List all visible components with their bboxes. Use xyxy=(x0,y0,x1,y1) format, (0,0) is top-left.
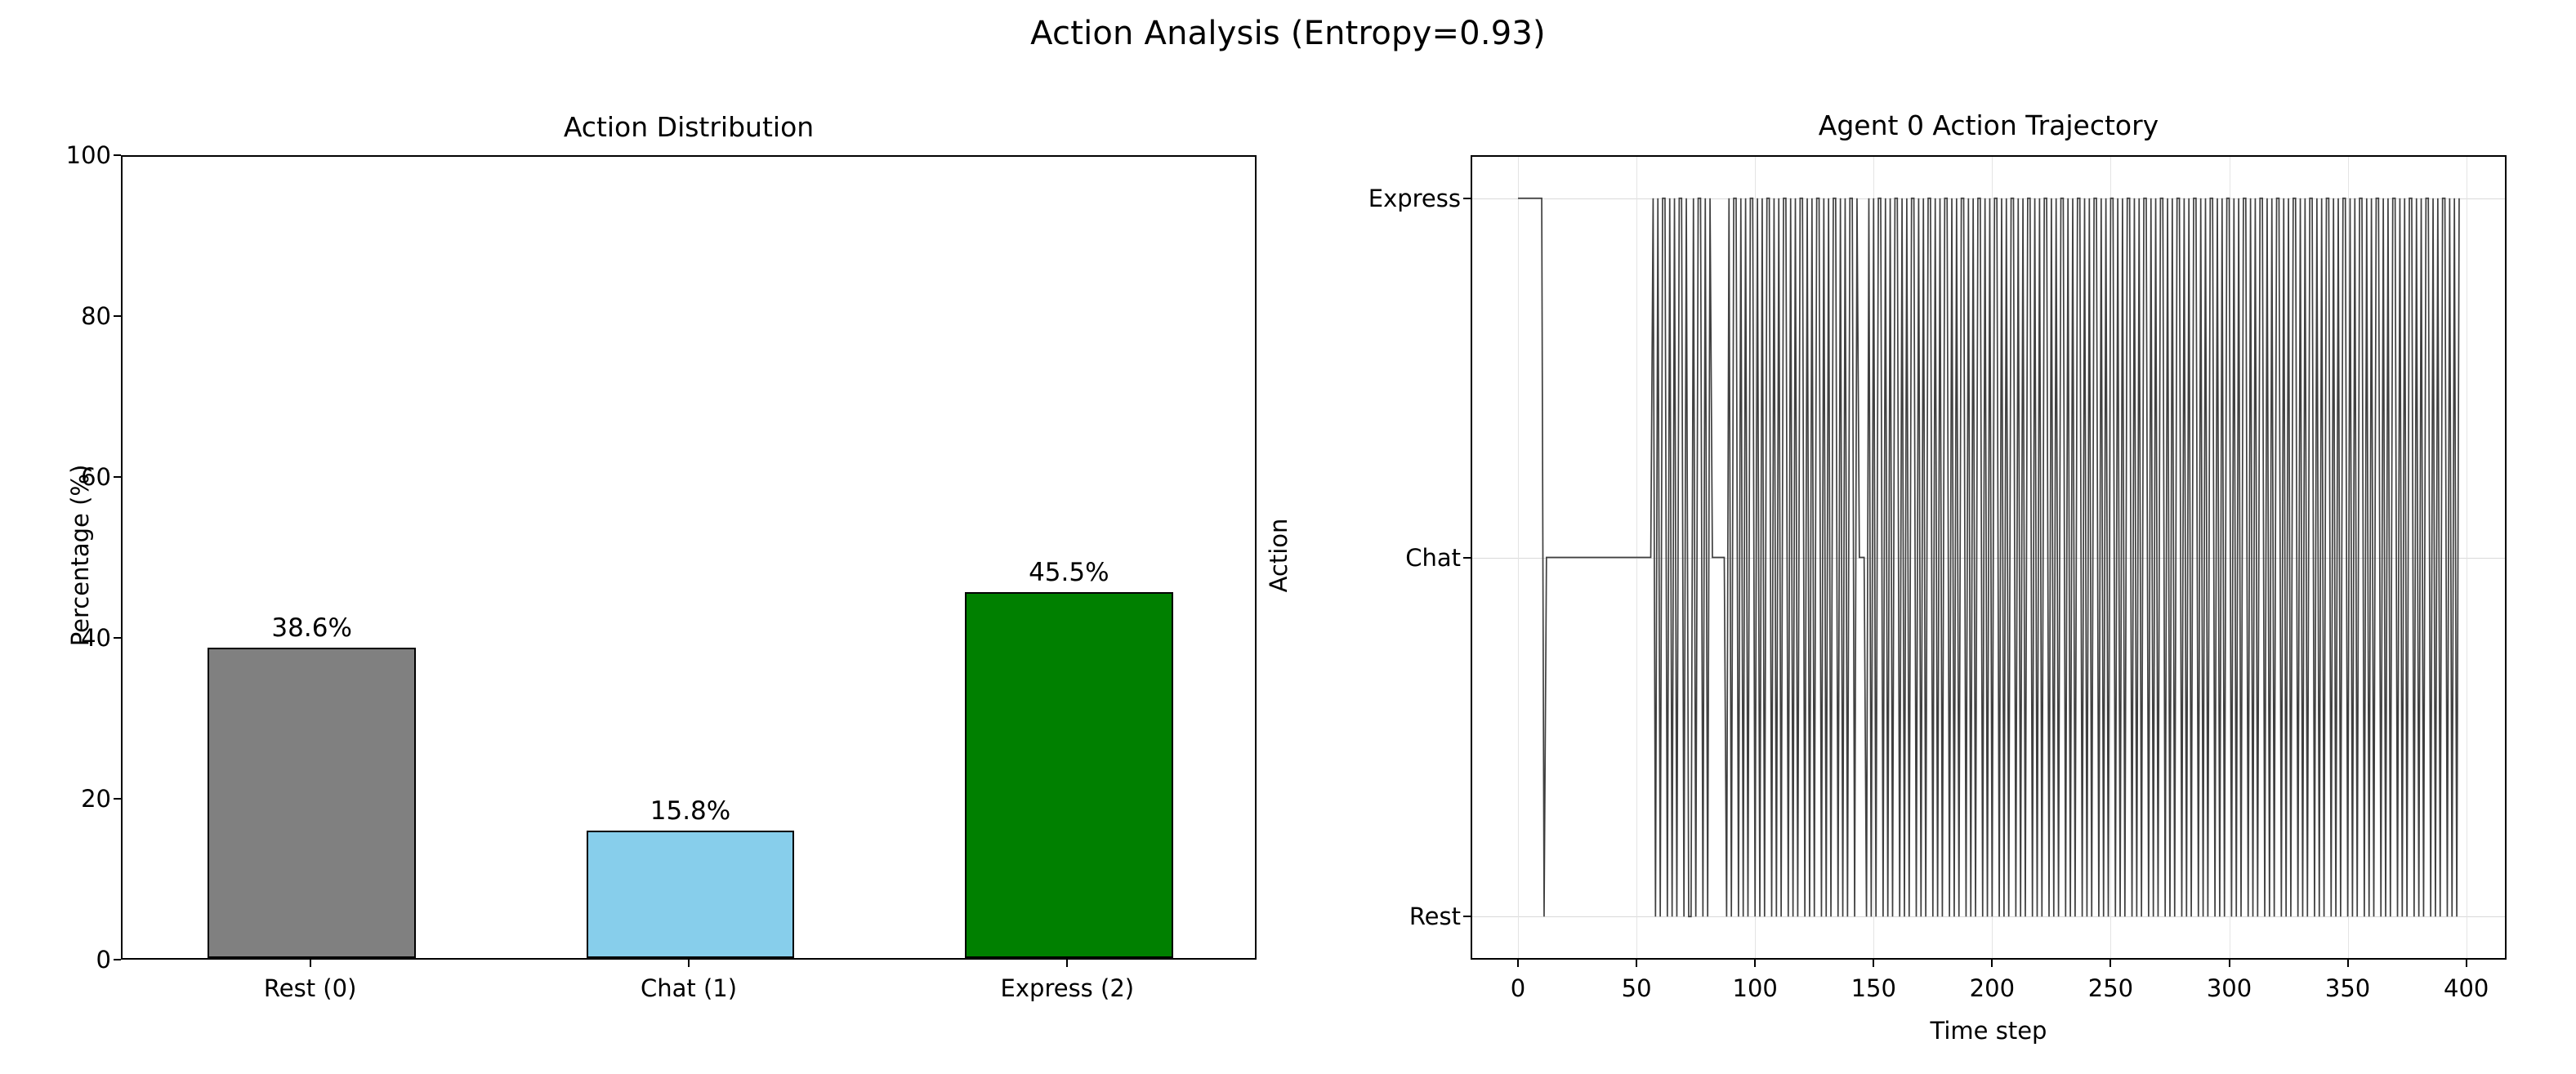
trajectory-y-tick-mark xyxy=(1463,557,1471,559)
bar-value-label: 38.6% xyxy=(271,613,351,643)
bar-plot-area: 38.6%15.8%45.5% xyxy=(123,157,1255,958)
trajectory-x-tick: 150 xyxy=(1851,974,1896,1002)
trajectory-y-tick-mark xyxy=(1463,198,1471,199)
trajectory-y-axis-label: Action xyxy=(1265,400,1292,711)
trajectory-x-tick-mark xyxy=(2229,960,2230,967)
trajectory-x-tick-mark xyxy=(1754,960,1756,967)
bar-x-tick-mark xyxy=(310,960,311,967)
trajectory-y-tick: Rest xyxy=(1283,902,1461,930)
trajectory-y-tick-mark xyxy=(1463,916,1471,917)
trajectory-x-tick: 300 xyxy=(2207,974,2252,1002)
agent-trajectory-axes: Agent 0 Action Trajectory xyxy=(1471,155,2507,960)
bar-x-tick: Chat (1) xyxy=(641,974,737,1002)
bar-rest-0 xyxy=(208,648,416,958)
trajectory-x-tick: 0 xyxy=(1511,974,1525,1002)
bar-value-label: 15.8% xyxy=(650,796,730,826)
trajectory-right-spine xyxy=(2505,155,2507,960)
trajectory-x-tick: 350 xyxy=(2325,974,2370,1002)
action-distribution-title: Action Distribution xyxy=(123,111,1255,143)
bar-x-tick: Rest (0) xyxy=(264,974,356,1002)
bar-x-tick-mark xyxy=(1066,960,1068,967)
trajectory-x-tick-mark xyxy=(1991,960,1993,967)
bar-y-tick: 20 xyxy=(39,785,111,813)
trajectory-x-tick-mark xyxy=(1517,960,1519,967)
bar-chat-1 xyxy=(587,831,795,958)
bar-y-tick: 80 xyxy=(39,302,111,330)
trajectory-x-tick: 100 xyxy=(1733,974,1778,1002)
figure-canvas: Action Analysis (Entropy=0.93) Action Di… xyxy=(0,0,2576,1074)
bar-value-label: 45.5% xyxy=(1029,558,1109,587)
figure-suptitle: Action Analysis (Entropy=0.93) xyxy=(0,15,2576,52)
bar-y-tick: 100 xyxy=(39,141,111,169)
bar-x-tick: Express (2) xyxy=(1001,974,1135,1002)
trajectory-x-tick-mark xyxy=(2109,960,2111,967)
bar-y-tick-mark xyxy=(114,154,121,156)
trajectory-x-tick-mark xyxy=(2466,960,2467,967)
bar-y-tick-mark xyxy=(114,959,121,960)
bar-y-tick-mark xyxy=(114,637,121,639)
bar-y-tick-mark xyxy=(114,476,121,478)
bar-y-tick-mark xyxy=(114,798,121,800)
trajectory-x-tick: 200 xyxy=(1970,974,2015,1002)
agent-trajectory-title: Agent 0 Action Trajectory xyxy=(1471,109,2507,141)
trajectory-bottom-spine xyxy=(1471,958,2507,960)
trajectory-top-spine xyxy=(1471,155,2507,157)
trajectory-y-tick: Chat xyxy=(1283,544,1461,572)
trajectory-y-tick: Express xyxy=(1283,185,1461,212)
bar-y-tick-mark xyxy=(114,315,121,317)
trajectory-x-tick-mark xyxy=(1636,960,1637,967)
bar-y-tick: 0 xyxy=(39,946,111,974)
action-distribution-axes: Action Distribution 38.6%15.8%45.5% xyxy=(121,155,1257,960)
trajectory-x-tick: 50 xyxy=(1622,974,1652,1002)
trajectory-line xyxy=(1471,155,2507,960)
bar-y-axis-label: Percentage (%) xyxy=(66,400,94,711)
trajectory-x-axis-label: Time step xyxy=(1471,1017,2507,1045)
bar-express-2 xyxy=(965,592,1173,958)
trajectory-x-tick-mark xyxy=(2347,960,2349,967)
trajectory-x-tick: 250 xyxy=(2088,974,2133,1002)
trajectory-x-tick: 400 xyxy=(2444,974,2489,1002)
bar-x-tick-mark xyxy=(688,960,690,967)
trajectory-left-spine xyxy=(1471,155,1472,960)
trajectory-x-tick-mark xyxy=(1873,960,1874,967)
